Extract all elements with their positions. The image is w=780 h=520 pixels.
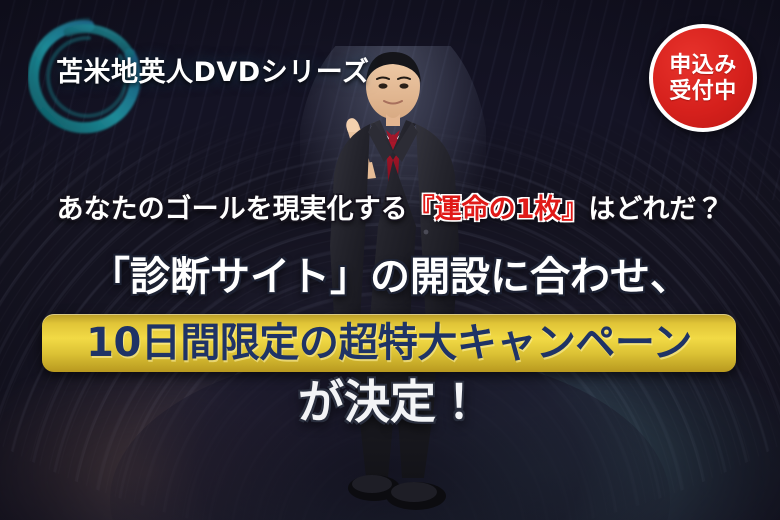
- headline-question-emphasis: 『運命の1枚』: [408, 194, 589, 225]
- badge-line-2: 受付中: [669, 79, 737, 104]
- headline-question: あなたのゴールを現実化する『運命の1枚』はどれだ？: [0, 193, 780, 227]
- headline-question-pre: あなたのゴールを現実化する: [57, 194, 408, 225]
- headline-decided: が決定！: [0, 374, 780, 430]
- badge-line-1: 申込み: [669, 53, 737, 78]
- status-badge-accepting-applications[interactable]: 申込み 受付中: [649, 24, 757, 132]
- campaign-highlight-bar: 10日間限定の超特大キャンペーン: [42, 314, 736, 372]
- headline-question-post: はどれだ？: [588, 194, 723, 225]
- campaign-banner: 申込み 受付中 苫米地英人DVDシリーズ あなたのゴールを現実化する『運命の1枚…: [0, 0, 780, 520]
- headline-site-launch: 「診断サイト」の開設に合わせ、: [0, 252, 780, 302]
- series-title: 苫米地英人DVDシリーズ: [56, 50, 369, 89]
- campaign-highlight-text: 10日間限定の超特大キャンペーン: [86, 321, 692, 365]
